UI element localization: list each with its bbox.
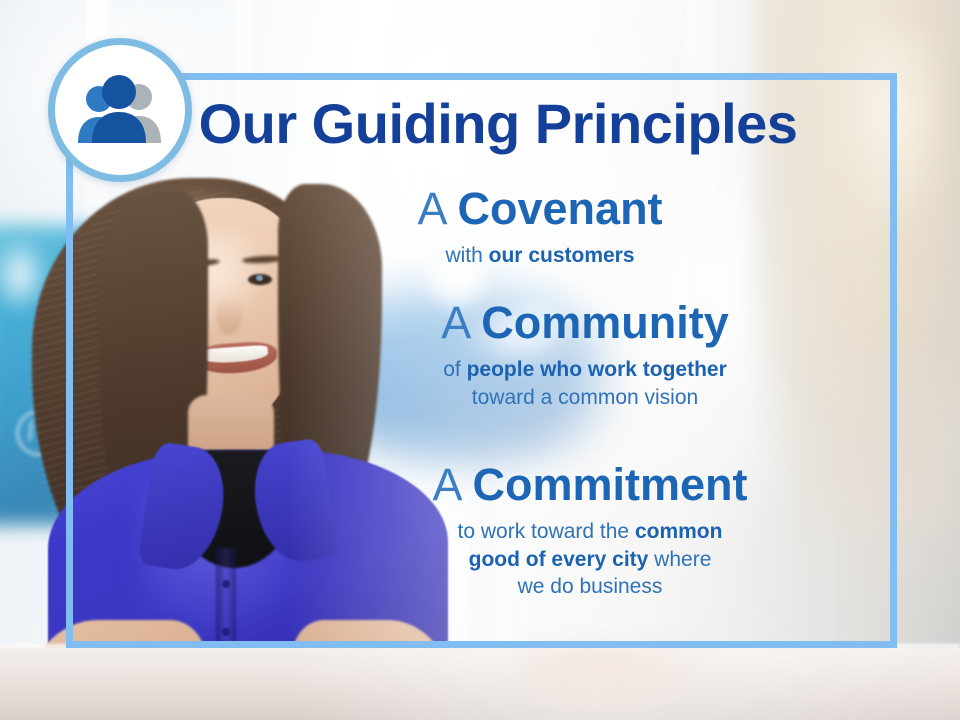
principle-lead-word: A: [441, 297, 469, 348]
subtext-segment-bold: people who work together: [467, 358, 727, 381]
principle-subtext-line: toward a common vision: [280, 384, 890, 412]
principle-subtext: of people who work together toward a com…: [280, 356, 890, 411]
principle-community: A Community of people who work together …: [280, 300, 890, 411]
principle-keyword: Community: [481, 297, 729, 348]
principle-keyword: Covenant: [458, 183, 663, 234]
principle-subtext-line: of people who work together: [280, 356, 890, 384]
principle-subtext: with our customers: [250, 242, 830, 270]
principle-commitment: A Commitment to work toward the common g…: [300, 462, 880, 601]
principle-lead-word: A: [417, 183, 445, 234]
subtext-segment: to work toward the: [458, 520, 635, 543]
page-title: Our Guiding Principles: [0, 96, 960, 152]
principle-keyword: Commitment: [473, 459, 748, 510]
principle-lead-word: A: [432, 459, 460, 510]
subtext-segment: with: [445, 244, 488, 267]
principle-heading: A Community: [280, 300, 890, 347]
poster-text-content: Our Guiding Principles A Covenant with o…: [0, 0, 960, 720]
subtext-segment: toward a common vision: [472, 386, 698, 409]
principle-subtext-line: good of every city where: [300, 546, 880, 574]
principle-heading: A Covenant: [250, 186, 830, 233]
principle-subtext-line: we do business: [300, 573, 880, 601]
principle-covenant: A Covenant with our customers: [250, 186, 830, 270]
subtext-segment: where: [648, 548, 711, 571]
principle-subtext: to work toward the common good of every …: [300, 518, 880, 601]
principle-subtext-line: with our customers: [250, 242, 830, 270]
principle-subtext-line: to work toward the common: [300, 518, 880, 546]
subtext-segment: we do business: [518, 575, 663, 598]
subtext-segment-bold: our customers: [489, 244, 635, 267]
subtext-segment: of: [443, 358, 466, 381]
principle-heading: A Commitment: [300, 462, 880, 509]
subtext-segment-bold: common: [635, 520, 723, 543]
guiding-principles-poster: FLOW AUTOMOTIVE FLOW: [0, 0, 960, 720]
subtext-segment-bold: good of every city: [469, 548, 649, 571]
